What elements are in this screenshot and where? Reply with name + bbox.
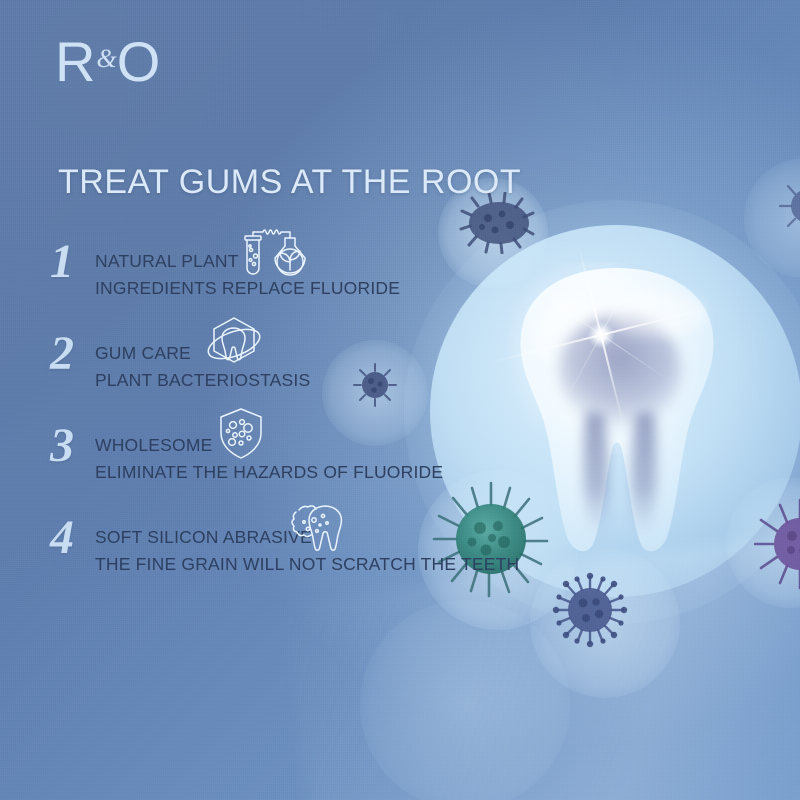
- feature-title-text: SOFT SILICON ABRASIVE: [95, 527, 312, 547]
- feature-number: 3: [50, 422, 92, 470]
- feature-item-wholesome: 3 WHOLESOME ELIMINA: [50, 416, 570, 508]
- page-title: TREAT GUMS AT THE ROOT: [58, 163, 521, 202]
- feature-number: 1: [50, 238, 92, 286]
- logo-ampersand: &: [96, 44, 116, 73]
- feature-title: GUM CARE: [95, 340, 191, 367]
- tooth-shield-orbit-icon: [203, 314, 265, 370]
- brand-logo: R&O: [55, 34, 161, 90]
- feature-subtitle: INGREDIENTS REPLACE FLUORIDE: [95, 275, 570, 302]
- feature-list: 1 NATURAL PLANT: [50, 232, 570, 600]
- feature-title: NATURAL PLANT: [95, 248, 239, 275]
- purple-spiky-virus-microbe: [754, 498, 800, 590]
- feature-number: 2: [50, 330, 92, 378]
- feature-title-text: GUM CARE: [95, 343, 191, 363]
- feature-subtitle: THE FINE GRAIN WILL NOT SCRATCH THE TEET…: [95, 551, 570, 578]
- test-tube-and-leaf-flask-icon: [237, 226, 311, 282]
- decorative-bubble-top-right: [744, 158, 800, 278]
- feature-subtitle: ELIMINATE THE HAZARDS OF FLUORIDE: [95, 459, 570, 486]
- poster-canvas: R&O TREAT GUMS AT THE ROOT 1 NATURAL PLA…: [0, 0, 800, 800]
- feature-subtitle: PLANT BACTERIOSTASIS: [95, 367, 570, 394]
- feature-item-gum-care: 2 GUM CARE PLANT BA: [50, 324, 570, 416]
- feature-title: SOFT SILICON ABRASIVE: [95, 524, 312, 551]
- feature-item-natural-plant: 1 NATURAL PLANT: [50, 232, 570, 324]
- shield-bubbles-icon: [215, 406, 267, 462]
- logo-letter-r: R: [55, 30, 96, 93]
- top-right-virus-microbe: [778, 176, 800, 236]
- feature-title: WHOLESOME: [95, 432, 213, 459]
- tooth-foam-icon: [287, 498, 355, 554]
- logo-letter-o: O: [117, 30, 162, 93]
- decorative-bubble-g: [360, 600, 570, 800]
- decorative-bubble-e: [726, 478, 800, 608]
- feature-number: 4: [50, 514, 92, 562]
- feature-title-text: WHOLESOME: [95, 435, 213, 455]
- feature-item-soft-silicon-abrasive: 4 SOFT SILICON ABRASIVE: [50, 508, 570, 600]
- feature-title-text: NATURAL PLANT: [95, 251, 239, 271]
